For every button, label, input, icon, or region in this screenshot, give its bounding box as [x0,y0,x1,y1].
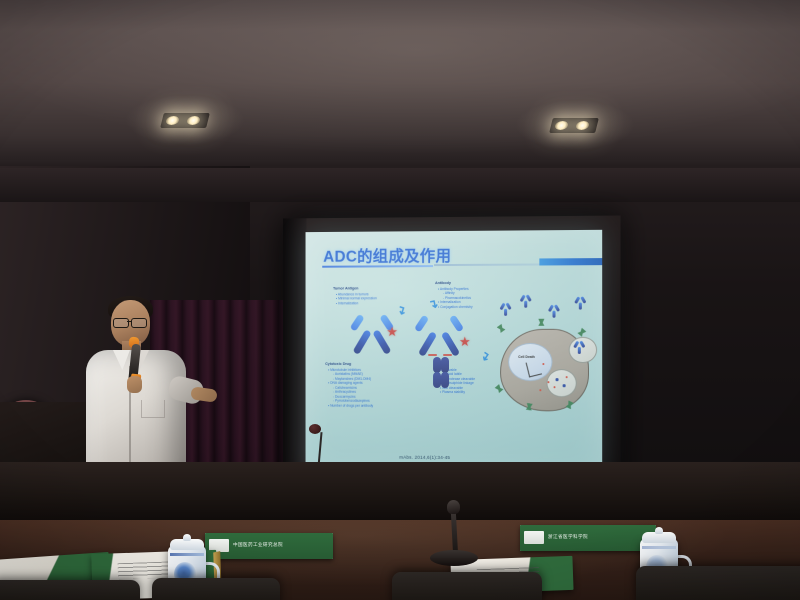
cup-rim-band [170,553,204,556]
eyeglasses-bridge [127,321,132,322]
antibody-fc-domain [433,357,441,373]
chair-back [392,572,542,600]
table-microphone-base [430,550,478,566]
name-placard-right: 浙江省医学科学院 [520,525,656,551]
free-antibody-icon [520,295,532,307]
antibody-fab [449,314,464,332]
name-placard-left: 中国医药工业研究总院 [205,533,333,559]
spotlight-bulb [575,121,590,130]
endosome-vesicle [569,337,597,363]
upper-wall-strip [0,168,800,202]
cell-surface-receptor [577,328,586,337]
released-drug-dot [542,363,544,365]
lecture-hall-photo: ZU ADC的组成及作用 Tumor Antigen • Abundance i… [0,0,800,600]
endosome-vesicle [546,369,576,397]
ceiling-light-wash [0,0,800,165]
free-antibody-icon [500,303,512,315]
ceiling-spotlight-left [160,113,210,128]
block-heading: Antibody [435,281,507,286]
eyeglasses-icon [131,318,147,328]
cell-surface-receptor [497,324,506,333]
projection-screen: ADC的组成及作用 Tumor Antigen • Abundance in t… [283,216,621,499]
cup-lid-knob [183,534,191,541]
chair-back [152,578,280,600]
placard-text: 中国医药工业研究总院 [233,542,283,548]
cell-death-label: Cell Death [518,355,535,359]
spotlight-bulb [165,116,180,125]
drug-particle [566,376,568,378]
ceiling-spotlight-right [549,118,599,133]
text-block-cytotoxic-drug: Cytotoxic Drug • Microtubule inhibitors … [325,362,398,408]
eyeglasses-icon [113,318,129,328]
placard-text: 浙江省医学科学院 [548,534,588,540]
slide-accent-bar [539,258,602,265]
linker-hinge [443,354,452,356]
stage-front-panel [0,462,800,524]
free-antibody-icon [548,305,560,317]
screen-left-border [283,218,307,496]
slide-citation: mAbs. 2014,6(1):34-45 [399,455,450,460]
chair-back [636,566,800,600]
drug-particle [556,378,559,381]
drug-particle [563,384,566,387]
cell-surface-receptor [538,319,544,326]
antibody-fc-domain [441,372,449,388]
slide-title: ADC的组成及作用 [323,244,451,267]
cell-internalization-diagram: Cell Death [492,288,601,441]
antibody-fab [414,315,429,333]
drug-particle [554,386,556,388]
block-heading: Cytotoxic Drug [325,362,398,367]
released-drug-dot [547,381,549,383]
block-heading: Tumor Antigen [333,286,410,291]
chair-back [0,580,140,600]
microphone-stand-head [309,424,321,434]
antibody-fc-domain [433,372,441,388]
cup-lid-knob [655,527,663,534]
antibody-arm [353,329,372,355]
spotlight-bulb [554,121,569,130]
antibody-fc-domain [441,357,449,373]
title-underline [322,265,433,268]
title-rule [434,263,544,266]
cup-rim-band [642,546,676,549]
spotlight-bulb [186,116,201,125]
placard-logo [524,531,544,544]
free-antibody-icon [575,296,587,308]
antibody-fab [350,314,365,332]
internalized-antibody-icon [574,341,586,353]
linker-hinge [428,354,437,356]
shirt-pocket [141,400,165,418]
table-microphone-head [447,500,460,514]
projection-screen-surface: ADC的组成及作用 Tumor Antigen • Abundance in t… [306,230,603,476]
block-item: • Number of drugs per antibody [325,403,398,408]
presentation-slide: ADC的组成及作用 Tumor Antigen • Abundance in t… [306,230,603,476]
speaker-hand [127,376,142,393]
released-drug-dot [539,389,541,391]
